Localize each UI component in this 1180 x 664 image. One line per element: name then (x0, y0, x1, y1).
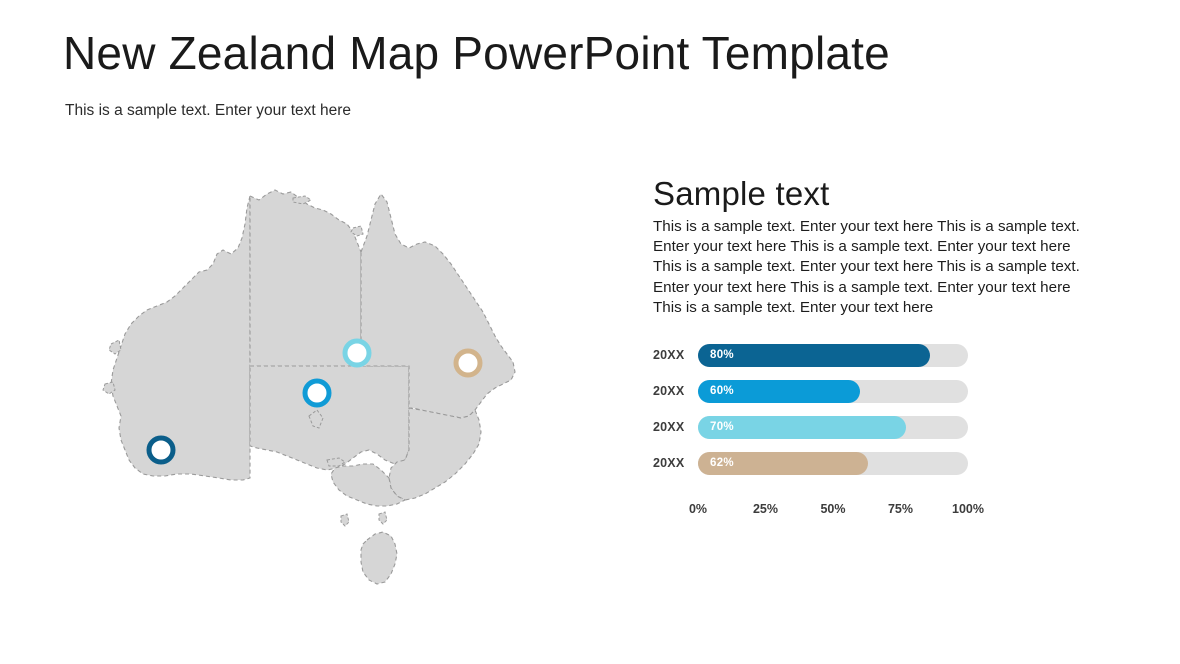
bar-track: 80% (698, 344, 968, 367)
bar-track: 62% (698, 452, 968, 475)
bar-category-label: 20XX (653, 456, 695, 470)
bar-row: 20XX62% (653, 452, 983, 478)
progress-bar-chart: 20XX80%20XX60%20XX70%20XX62% 0%25%50%75%… (653, 344, 983, 529)
bar-row: 20XX60% (653, 380, 983, 406)
bar-value-label: 80% (710, 344, 734, 367)
axis-tick-label: 25% (753, 502, 778, 516)
axis-tick-label: 75% (888, 502, 913, 516)
bar-category-label: 20XX (653, 384, 695, 398)
page-title: New Zealand Map PowerPoint Template (63, 29, 890, 77)
bar-fill: 62% (698, 452, 868, 475)
bar-fill: 70% (698, 416, 906, 439)
content-panel: Sample text This is a sample text. Enter… (653, 176, 1113, 318)
content-heading: Sample text (653, 176, 1113, 213)
map-region-northern-territory (250, 190, 361, 366)
map-island-bass-west (341, 514, 349, 526)
axis-tick-label: 0% (689, 502, 707, 516)
map-region-western-australia (111, 196, 250, 480)
axis-tick-label: 100% (952, 502, 984, 516)
map-landmass-group (103, 190, 515, 584)
bar-category-label: 20XX (653, 420, 695, 434)
map-region-south-australia (250, 366, 409, 470)
bar-chart-x-axis: 0%25%50%75%100% (698, 502, 968, 522)
bar-fill: 80% (698, 344, 930, 367)
bar-category-label: 20XX (653, 348, 695, 362)
bar-row: 20XX70% (653, 416, 983, 442)
bar-track: 60% (698, 380, 968, 403)
bar-row: 20XX80% (653, 344, 983, 370)
map-island-bass-east (379, 512, 387, 524)
bar-value-label: 62% (710, 452, 734, 475)
map-panel (95, 188, 565, 588)
axis-tick-label: 50% (820, 502, 845, 516)
bar-rows-container: 20XX80%20XX60%20XX70%20XX62% (653, 344, 983, 478)
bar-value-label: 60% (710, 380, 734, 403)
map-island-melville (293, 196, 311, 204)
bar-track: 70% (698, 416, 968, 439)
map-region-tasmania (361, 532, 397, 584)
australia-map-svg (95, 188, 565, 588)
bar-value-label: 70% (710, 416, 734, 439)
page-subtitle: This is a sample text. Enter your text h… (65, 102, 351, 120)
content-body-text: This is a sample text. Enter your text h… (653, 217, 1098, 318)
bar-fill: 60% (698, 380, 860, 403)
